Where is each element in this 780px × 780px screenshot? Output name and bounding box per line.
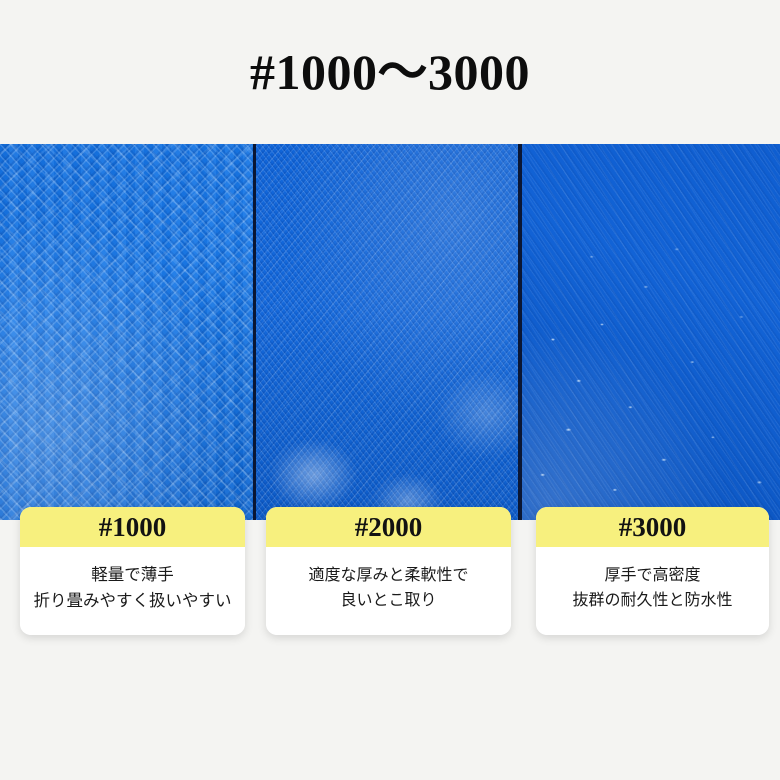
tarp-photo-2000 bbox=[256, 144, 518, 520]
spec-card-1000-title: #1000 bbox=[99, 514, 167, 541]
tarp-photo-3000 bbox=[522, 144, 780, 520]
page-title: #1000〜3000 bbox=[250, 47, 530, 97]
spec-card-2000: #2000 適度な厚みと柔軟性で 良いとこ取り bbox=[266, 507, 511, 635]
spec-card-3000-line-1: 厚手で高密度 bbox=[604, 563, 700, 588]
spec-card-3000: #3000 厚手で高密度 抜群の耐久性と防水性 bbox=[536, 507, 769, 635]
spec-card-1000: #1000 軽量で薄手 折り畳みやすく扱いやすい bbox=[20, 507, 245, 635]
spec-card-3000-header: #3000 bbox=[536, 507, 769, 547]
spec-card-1000-line-2: 折り畳みやすく扱いやすい bbox=[34, 588, 232, 614]
tarp-texture-2000-image bbox=[256, 144, 518, 520]
spec-card-2000-body: 適度な厚みと柔軟性で 良いとこ取り bbox=[266, 547, 511, 635]
spec-card-2000-line-2: 良いとこ取り bbox=[340, 588, 436, 613]
spec-card-2000-line-1: 適度な厚みと柔軟性で bbox=[308, 563, 468, 588]
title-bar: #1000〜3000 bbox=[0, 0, 780, 144]
spec-card-row: #1000 軽量で薄手 折り畳みやすく扱いやすい #2000 適度な厚みと柔軟性… bbox=[0, 507, 780, 642]
spec-card-2000-header: #2000 bbox=[266, 507, 511, 547]
spec-card-3000-title: #3000 bbox=[619, 514, 687, 541]
spec-card-1000-header: #1000 bbox=[20, 507, 245, 547]
spec-card-1000-line-1: 軽量で薄手 bbox=[91, 562, 174, 588]
spec-card-1000-body: 軽量で薄手 折り畳みやすく扱いやすい bbox=[20, 547, 245, 635]
spec-card-2000-title: #2000 bbox=[355, 514, 423, 541]
spec-card-3000-body: 厚手で高密度 抜群の耐久性と防水性 bbox=[536, 547, 769, 635]
tarp-photo-strip bbox=[0, 144, 780, 520]
tarp-texture-1000-image bbox=[0, 144, 253, 520]
tarp-photo-1000 bbox=[0, 144, 253, 520]
tarp-texture-3000-image bbox=[522, 144, 780, 520]
spec-card-3000-line-2: 抜群の耐久性と防水性 bbox=[572, 588, 732, 613]
